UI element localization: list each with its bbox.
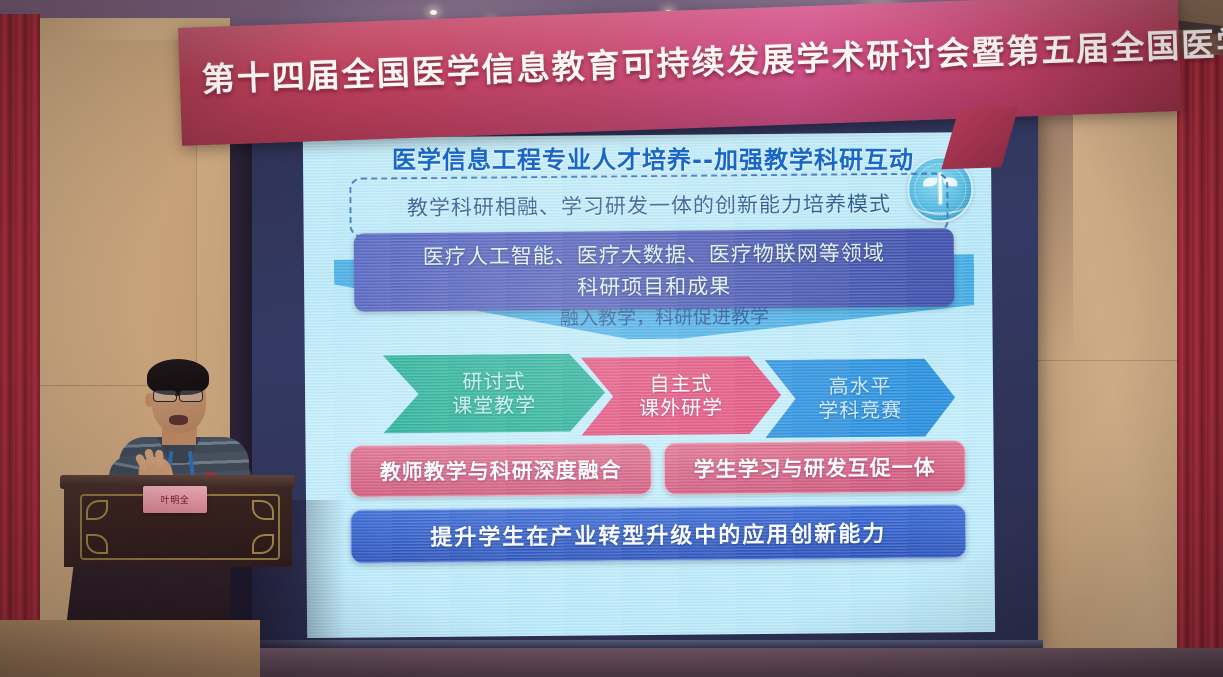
slide-research-box: 医疗人工智能、医疗大数据、医疗物联网等领域 科研项目和成果 bbox=[354, 228, 955, 311]
slide-funnel-text: 融入教学，科研促进教学 bbox=[454, 301, 874, 332]
slide-title: 医学信息工程专业人才培养--加强教学科研互动 bbox=[353, 140, 953, 175]
curtain-right bbox=[1177, 55, 1223, 677]
ceiling-spotlight-0 bbox=[430, 10, 437, 15]
slide-research-line1: 医疗人工智能、医疗大数据、医疗物联网等领域 bbox=[354, 236, 954, 271]
slide-chevron-competition-line2: 学科竞赛 bbox=[818, 398, 902, 423]
slide-chevron-seminar: 研讨式 课堂教学 bbox=[383, 353, 606, 433]
slide-dashed-statement-box: 教学科研相融、学习研发一体的创新能力培养模式 bbox=[349, 172, 949, 237]
podium-nameplate-text: 叶明全 bbox=[161, 493, 190, 506]
slide-chevron-competition-line1: 高水平 bbox=[828, 373, 891, 398]
podium-nameplate: 叶明全 bbox=[143, 486, 207, 513]
slide-chevron-competition: 高水平 学科竞赛 bbox=[765, 358, 956, 438]
presentation-slide: 教学科研相融、学习研发一体的创新能力培养模式 医疗人工智能、医疗大数据、医疗物联… bbox=[303, 132, 995, 638]
speaker-mouth bbox=[169, 415, 188, 425]
slide-outcome-box-teacher: 教师教学与科研深度融合 bbox=[350, 443, 652, 498]
slide-dashed-statement-text: 教学科研相融、学习研发一体的创新能力培养模式 bbox=[407, 188, 891, 222]
eyeglasses-bridge bbox=[175, 394, 180, 396]
eyeglasses-left-lens-icon bbox=[153, 390, 177, 402]
slide-conclusion-text: 提升学生在产业转型升级中的应用创新能力 bbox=[430, 516, 886, 552]
conference-photo: 教学科研相融、学习研发一体的创新能力培养模式 医疗人工智能、医疗大数据、医疗物联… bbox=[0, 0, 1223, 677]
slide-chevron-selfstudy-line2: 课外研学 bbox=[639, 395, 723, 420]
stage-floor-left bbox=[0, 620, 260, 677]
slide-chevron-selfstudy: 自主式 课外研学 bbox=[581, 356, 782, 436]
curtain-left bbox=[0, 14, 40, 677]
slide-chevron-seminar-line2: 课堂教学 bbox=[452, 393, 536, 418]
slide-chevron-selfstudy-line1: 自主式 bbox=[649, 371, 712, 396]
slide-research-line2: 科研项目和成果 bbox=[354, 268, 954, 303]
slide-outcome-box-student-text: 学生学习与研发互促一体 bbox=[694, 452, 936, 484]
eyeglasses-right-lens-icon bbox=[179, 390, 203, 402]
slide-outcome-box-student: 学生学习与研发互促一体 bbox=[664, 440, 966, 495]
slide-chevron-seminar-line1: 研讨式 bbox=[462, 369, 525, 394]
slide-outcome-box-teacher-text: 教师教学与科研深度融合 bbox=[380, 454, 622, 486]
slide-conclusion-box: 提升学生在产业转型升级中的应用创新能力 bbox=[350, 504, 966, 563]
